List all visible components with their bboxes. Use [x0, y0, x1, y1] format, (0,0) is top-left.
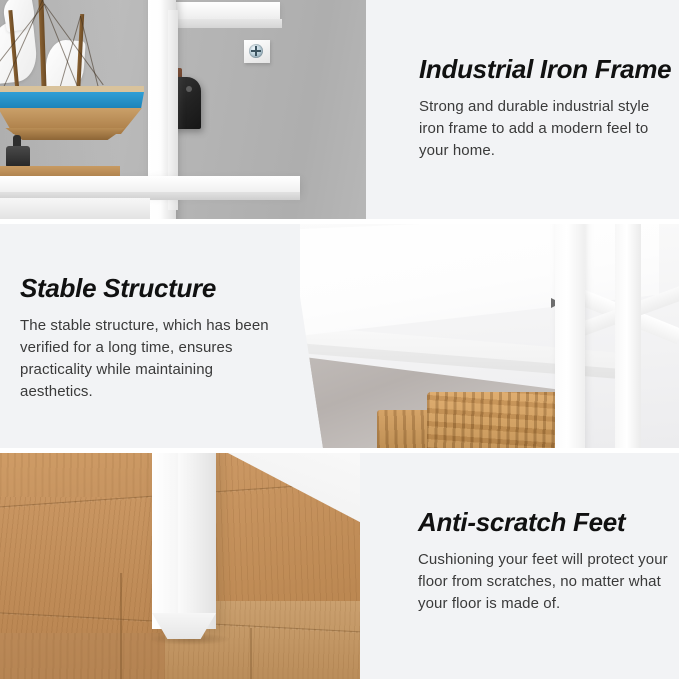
panel-3-text-block: Anti-scratch Feet Cushioning your feet w…	[418, 508, 670, 615]
panel-2-text-area: Stable Structure The stable structure, w…	[0, 224, 300, 448]
shelf-lower-rail	[0, 198, 150, 219]
panel-1-body: Strong and durable industrial style iron…	[419, 96, 669, 162]
panel-3-text-area: Anti-scratch Feet Cushioning your feet w…	[360, 453, 679, 679]
ship-mast	[38, 0, 46, 94]
panel-1-photo	[0, 0, 420, 219]
panel-2-heading: Stable Structure	[20, 274, 285, 303]
feature-panel-anti-scratch-feet: Anti-scratch Feet Cushioning your feet w…	[0, 453, 679, 679]
panel-1-text-area: Industrial Iron Frame Strong and durable…	[366, 0, 679, 219]
feature-panel-stable-structure: Stable Structure The stable structure, w…	[0, 224, 679, 448]
rattan-basket	[427, 392, 567, 448]
panel-3-body: Cushioning your feet will protect your f…	[418, 549, 670, 615]
assembly-screw-icon	[249, 44, 263, 58]
panel-3-heading: Anti-scratch Feet	[418, 508, 670, 537]
white-frame-post	[615, 224, 641, 448]
white-frame-post	[555, 224, 585, 448]
plank-seam	[120, 573, 122, 679]
panel-2-text-block: Stable Structure The stable structure, w…	[20, 274, 285, 403]
plank-seam	[250, 628, 252, 679]
table-leg-face	[152, 453, 178, 629]
panel-2-photo	[259, 224, 679, 448]
ship-hull-stripe	[0, 86, 144, 93]
shelf-rail	[0, 176, 300, 192]
mailbox-knob	[186, 86, 192, 92]
infographic-root: Industrial Iron Frame Strong and durable…	[0, 0, 679, 679]
panel-1-text-block: Industrial Iron Frame Strong and durable…	[419, 55, 669, 162]
feature-panel-industrial-iron-frame: Industrial Iron Frame Strong and durable…	[0, 0, 679, 219]
ship-hull-blue	[0, 92, 144, 109]
panel-1-heading: Industrial Iron Frame	[419, 55, 669, 84]
frame-top-rail	[170, 2, 280, 19]
frame-top-rail-edge	[170, 19, 282, 28]
panel-2-body: The stable structure, which has been ver…	[20, 315, 285, 403]
floor-plank	[0, 497, 170, 633]
panel-3-photo	[0, 453, 410, 679]
